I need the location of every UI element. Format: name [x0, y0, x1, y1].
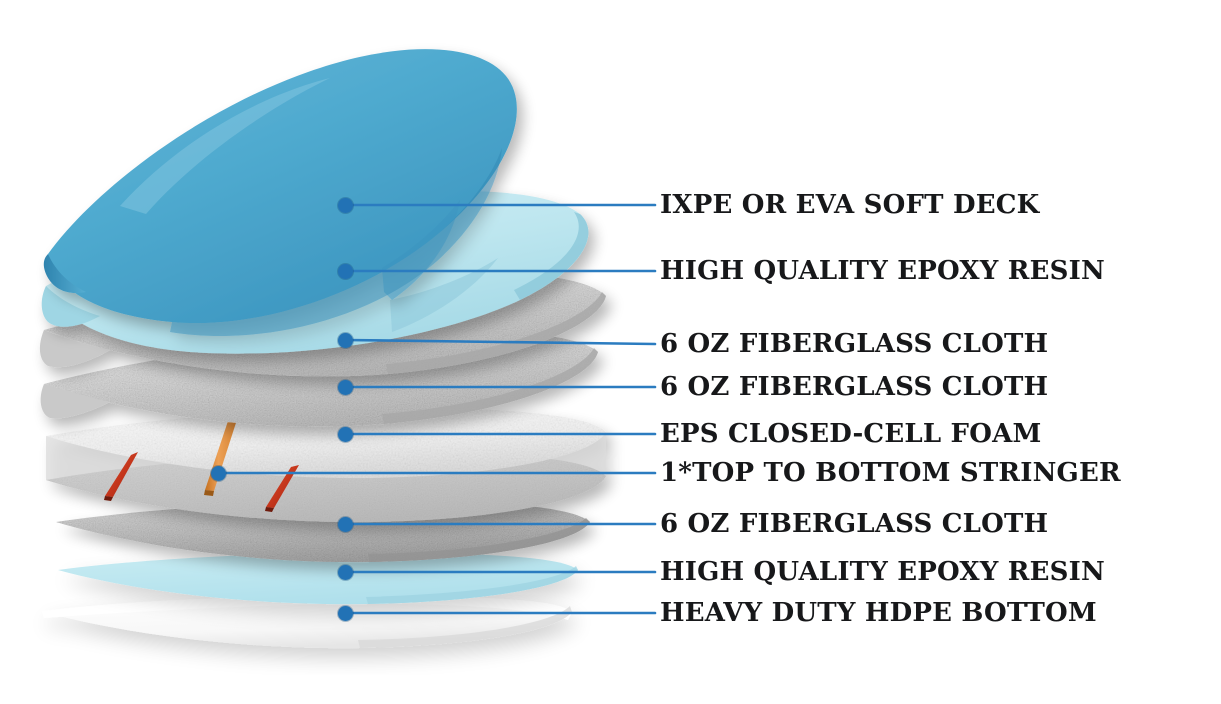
- callout-label-ixpe-eva-soft-deck: IXPE OR EVA SOFT DECK: [660, 192, 1039, 218]
- callout-dot-hdpe-bottom[interactable]: [338, 606, 353, 621]
- callout-dot-fiberglass-cloth-1[interactable]: [338, 333, 353, 348]
- callout-label-fiberglass-cloth-3: 6 OZ FIBERGLASS CLOTH: [660, 511, 1048, 537]
- callout-label-fiberglass-cloth-2: 6 OZ FIBERGLASS CLOTH: [660, 374, 1048, 400]
- callout-dot-epoxy-resin-top[interactable]: [338, 264, 353, 279]
- diagram-canvas: IXPE OR EVA SOFT DECKHIGH QUALITY EPOXY …: [0, 0, 1221, 704]
- callout-label-top-to-bottom-stringer: 1*TOP TO BOTTOM STRINGER: [660, 460, 1121, 486]
- callout-dot-ixpe-eva-soft-deck[interactable]: [338, 198, 353, 213]
- callout-label-hdpe-bottom: HEAVY DUTY HDPE BOTTOM: [660, 600, 1097, 626]
- callout-label-fiberglass-cloth-1: 6 OZ FIBERGLASS CLOTH: [660, 331, 1048, 357]
- callout-dot-top-to-bottom-stringer[interactable]: [211, 466, 226, 481]
- callout-label-epoxy-resin-bottom: HIGH QUALITY EPOXY RESIN: [660, 559, 1105, 585]
- callout-label-eps-closed-cell-foam: EPS CLOSED-CELL FOAM: [660, 421, 1041, 447]
- callout-dot-epoxy-resin-bottom[interactable]: [338, 565, 353, 580]
- callout-dot-fiberglass-cloth-3[interactable]: [338, 517, 353, 532]
- callout-label-epoxy-resin-top: HIGH QUALITY EPOXY RESIN: [660, 258, 1105, 284]
- callout-dot-fiberglass-cloth-2[interactable]: [338, 380, 353, 395]
- callout-dot-eps-closed-cell-foam[interactable]: [338, 427, 353, 442]
